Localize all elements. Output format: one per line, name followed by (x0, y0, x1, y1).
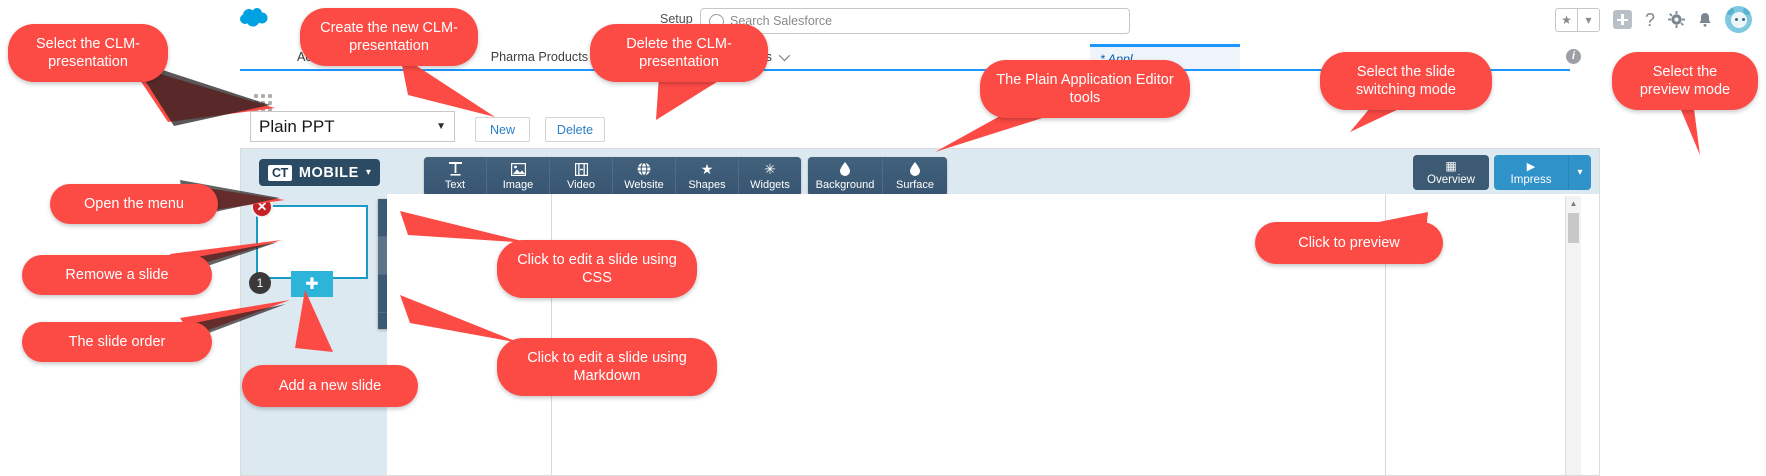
grid-icon: ▦ (1445, 159, 1456, 173)
gear-icon[interactable] (1668, 11, 1685, 28)
canvas-guide-left (551, 194, 552, 475)
annotation-create-clm: Create the new CLM-presentation (300, 8, 478, 66)
salesforce-cloud-logo (238, 6, 272, 30)
content-tool-set: Text Image Video Website (424, 157, 801, 196)
image-icon (511, 161, 526, 177)
scroll-up-arrow-icon[interactable]: ▲ (1566, 196, 1581, 211)
question-mark-icon[interactable]: ? (1645, 11, 1655, 29)
tool-text[interactable]: Text (424, 157, 487, 196)
appearance-tool-set: Background Surface (808, 157, 947, 196)
ct-mobile-wordmark: MOBILE (299, 165, 359, 181)
impress-mode-dropdown-toggle[interactable]: ▾ (1568, 155, 1591, 190)
droplet-icon (840, 161, 850, 177)
tool-video[interactable]: Video (550, 157, 613, 196)
callout-tail (285, 290, 355, 360)
overview-mode-button[interactable]: ▦ Overview (1413, 155, 1489, 190)
info-icon[interactable]: i (1566, 49, 1581, 64)
avatar[interactable] (1725, 6, 1752, 33)
ct-logo-badge: CT (268, 165, 292, 181)
annotation-click-preview: Click to preview (1255, 222, 1443, 264)
overview-label: Overview (1427, 174, 1475, 186)
tool-label: Background (816, 179, 875, 191)
text-icon (449, 161, 462, 177)
annotation-remove-slide: Remowe a slide (22, 255, 212, 295)
plain-editor-toolbar: Text Image Video Website (424, 157, 947, 196)
favorites-control[interactable]: ★ ▾ (1555, 8, 1600, 32)
tool-label: Text (445, 179, 465, 191)
tool-label: Video (567, 179, 595, 191)
bell-icon[interactable] (1698, 12, 1712, 28)
widgets-icon: ✳ (764, 161, 776, 177)
annotation-plain-editor-tools: The Plain Application Editor tools (980, 60, 1190, 118)
impress-mode-button[interactable]: ▶ Impress (1494, 155, 1568, 190)
scrollbar-thumb[interactable] (1568, 213, 1579, 243)
annotation-select-clm: Select the CLM-presentation (8, 24, 168, 82)
annotation-delete-clm: Delete the CLM-presentation (590, 24, 768, 82)
search-input[interactable]: Search Salesforce (700, 8, 1130, 34)
tool-widgets[interactable]: ✳ Widgets (739, 157, 801, 196)
tool-image[interactable]: Image (487, 157, 550, 196)
star-icon: ★ (701, 161, 714, 177)
annotation-slide-order: The slide order (22, 322, 212, 362)
star-icon[interactable]: ★ (1556, 9, 1577, 31)
tool-label: Shapes (688, 179, 725, 191)
chevron-down-icon: ▾ (366, 167, 371, 178)
annotation-add-slide: Add a new slide (242, 365, 418, 407)
tool-background[interactable]: Background (808, 157, 883, 196)
chevron-down-icon[interactable] (779, 50, 790, 61)
delete-presentation-button[interactable]: Delete (545, 117, 605, 142)
tool-label: Surface (896, 179, 934, 191)
tool-label: Image (503, 179, 534, 191)
salesforce-global-header: Setup Search Salesforce ★ ▾ ? (0, 0, 1766, 44)
globe-icon (637, 161, 651, 177)
tool-surface[interactable]: Surface (883, 157, 947, 196)
tool-website[interactable]: Website (613, 157, 676, 196)
play-icon: ▶ (1527, 160, 1535, 173)
tool-label: Website (624, 179, 664, 191)
chevron-down-icon[interactable]: ▾ (1577, 9, 1599, 31)
impress-label: Impress (1511, 174, 1552, 186)
callout-tail (400, 55, 510, 130)
droplet-icon (910, 161, 920, 177)
canvas-scrollbar[interactable]: ▲ (1565, 196, 1581, 475)
annotation-open-menu: Open the menu (50, 184, 218, 224)
screenshot-root: Setup Search Salesforce ★ ▾ ? (0, 0, 1766, 476)
annotation-edit-css: Click to edit a slide using CSS (497, 240, 697, 298)
video-icon (575, 161, 588, 177)
header-icon-group: ★ ▾ ? (1555, 6, 1752, 33)
annotation-edit-markdown: Click to edit a slide using Markdown (497, 338, 717, 396)
annotation-switch-mode: Select the slide switching mode (1320, 52, 1492, 110)
annotation-preview-mode: Select the preview mode (1612, 52, 1758, 110)
tool-label: Widgets (750, 179, 790, 191)
tool-shapes[interactable]: ★ Shapes (676, 157, 739, 196)
plus-icon[interactable] (1613, 10, 1632, 29)
